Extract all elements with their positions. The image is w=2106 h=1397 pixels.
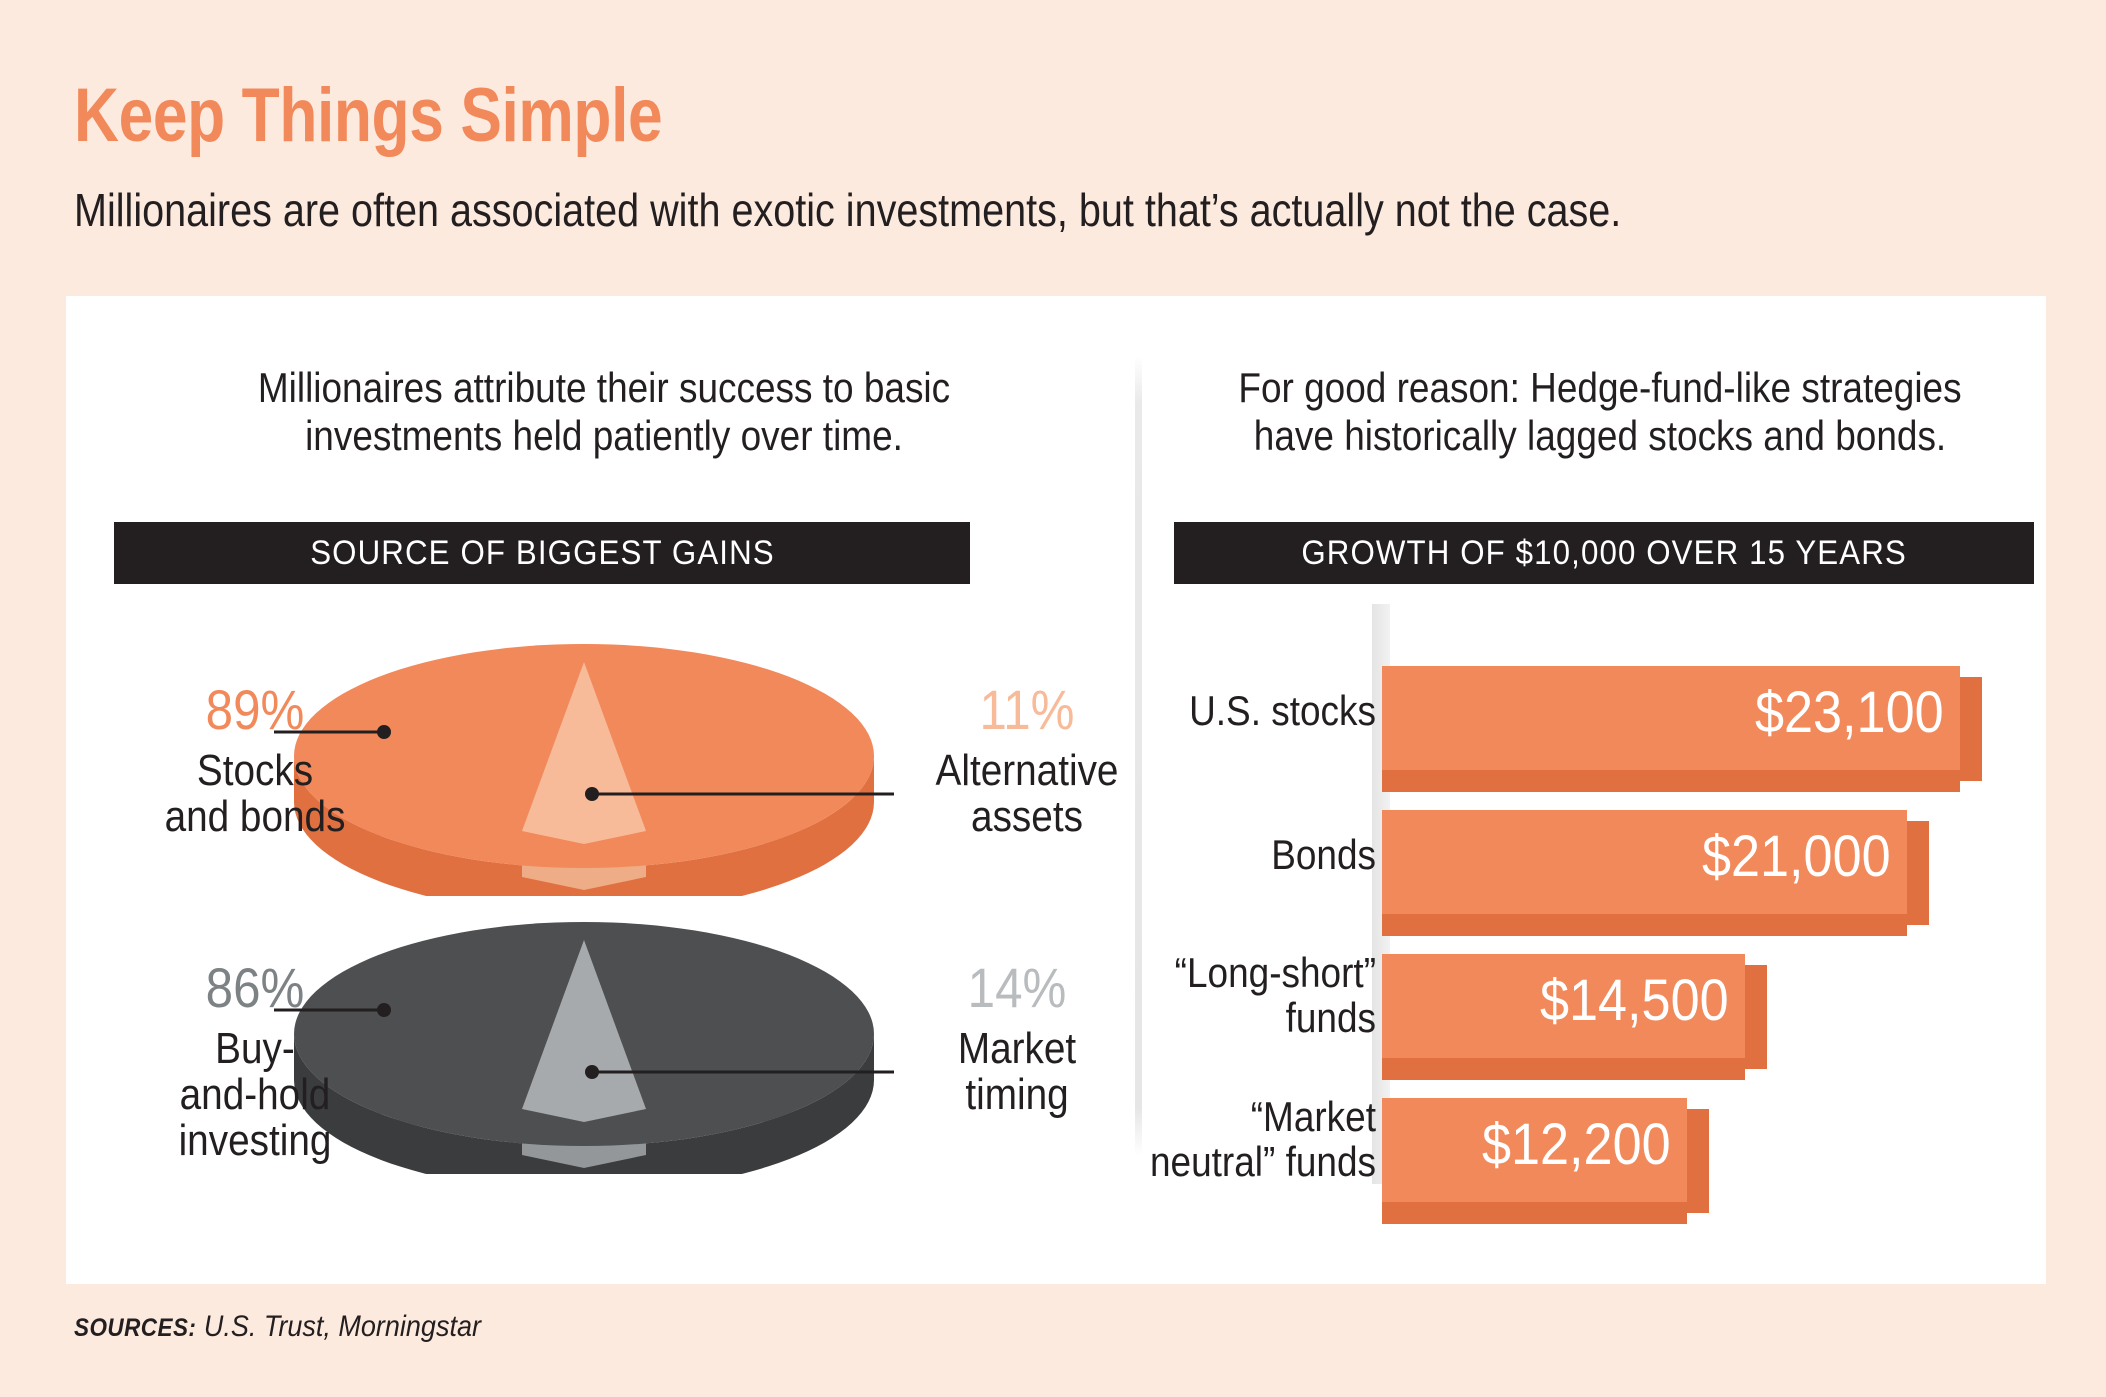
right-caption: For good reason: Hedge-fund-like strateg… (1204, 364, 1996, 461)
bar-label-bonds-line1: Bonds (1059, 832, 1376, 877)
sources-label: SOURCES: (74, 1314, 196, 1342)
pie-1-slice-1-label-line1: Alternative (926, 748, 1128, 794)
bar-label-market-neutral-funds-line1: “Market (1059, 1094, 1376, 1139)
page-title: Keep Things Simple (74, 78, 662, 154)
left-section-header: SOURCE OF BIGGEST GAINS (114, 522, 970, 584)
bar-bonds-side (1907, 821, 1929, 925)
pie-1-slice-0-value: 89% (163, 682, 348, 738)
bar-value-us-stocks: $23,100 (1755, 684, 1944, 742)
pie-2-slice-0-label-line2: and-hold (154, 1072, 356, 1118)
infographic-page: Keep Things Simple Millionaires are ofte… (0, 0, 2106, 1397)
bar-chart-growth: U.S. stocks $23,100 Bonds (1144, 614, 2044, 1204)
bar-long-short-funds-front (1382, 1058, 1745, 1080)
content-panel: Millionaires attribute their success to … (66, 296, 2046, 1284)
bar-us-stocks-front (1382, 770, 1960, 792)
bar-value-market-neutral-funds: $12,200 (1482, 1116, 1671, 1174)
pie-chart-source-of-gains: 89% Stocks and bonds 11% Alternative ass… (66, 616, 1126, 896)
left-caption-line1: Millionaires attribute their success to … (138, 364, 1071, 412)
bar-us-stocks-side (1960, 677, 1982, 781)
pie-2-slice-0-value: 86% (154, 960, 356, 1016)
pie-chart-buy-and-hold: 86% Buy- and-hold investing 14% Market t… (66, 894, 1126, 1174)
sources-line: SOURCES: U.S. Trust, Morningstar (74, 1310, 481, 1344)
pie-2-slice-0-label-group: 86% Buy- and-hold investing (140, 960, 370, 1155)
bar-label-market-neutral-funds: “Market neutral” funds (1059, 1094, 1376, 1185)
bar-value-long-short-funds: $14,500 (1540, 972, 1729, 1030)
pie-1-slice-0-label-line1: Stocks (163, 748, 348, 794)
right-section-header: GROWTH OF $10,000 OVER 15 YEARS (1174, 522, 2034, 584)
page-subtitle: Millionaires are often associated with e… (74, 186, 1621, 234)
pie-2-slice-0-label-line3: investing (154, 1118, 356, 1164)
bar-label-long-short-funds-line1: “Long-short” (1059, 950, 1376, 995)
bar-label-us-stocks: U.S. stocks (1059, 688, 1376, 733)
right-caption-line1: For good reason: Hedge-fund-like strateg… (1204, 364, 1996, 412)
pie-2-slice-0-label-line1: Buy- (154, 1026, 356, 1072)
pie-1-slice-0-label-group: 89% Stocks and bonds (150, 682, 360, 830)
bar-label-market-neutral-funds-line2: neutral” funds (1059, 1139, 1376, 1184)
left-section-title: SOURCE OF BIGGEST GAINS (310, 534, 775, 573)
left-caption-line2: investments held patiently over time. (138, 412, 1071, 460)
pie-1-slice-0-label-line2: and bonds (163, 794, 348, 840)
pie-1-graphic (274, 616, 894, 896)
sources-text: U.S. Trust, Morningstar (204, 1310, 481, 1343)
bar-long-short-funds-side (1745, 965, 1767, 1069)
bar-label-bonds: Bonds (1059, 832, 1376, 877)
right-section-title: GROWTH OF $10,000 OVER 15 YEARS (1301, 534, 1907, 573)
bar-label-long-short-funds: “Long-short” funds (1059, 950, 1376, 1041)
bar-value-bonds: $21,000 (1702, 828, 1891, 886)
bar-market-neutral-funds-front (1382, 1202, 1687, 1224)
bar-label-long-short-funds-line2: funds (1059, 995, 1376, 1040)
right-caption-line2: have historically lagged stocks and bond… (1204, 412, 1996, 460)
bar-label-us-stocks-line1: U.S. stocks (1059, 688, 1376, 733)
bar-market-neutral-funds-side (1687, 1109, 1709, 1213)
bar-bonds-front (1382, 914, 1907, 936)
left-caption: Millionaires attribute their success to … (138, 364, 1071, 461)
